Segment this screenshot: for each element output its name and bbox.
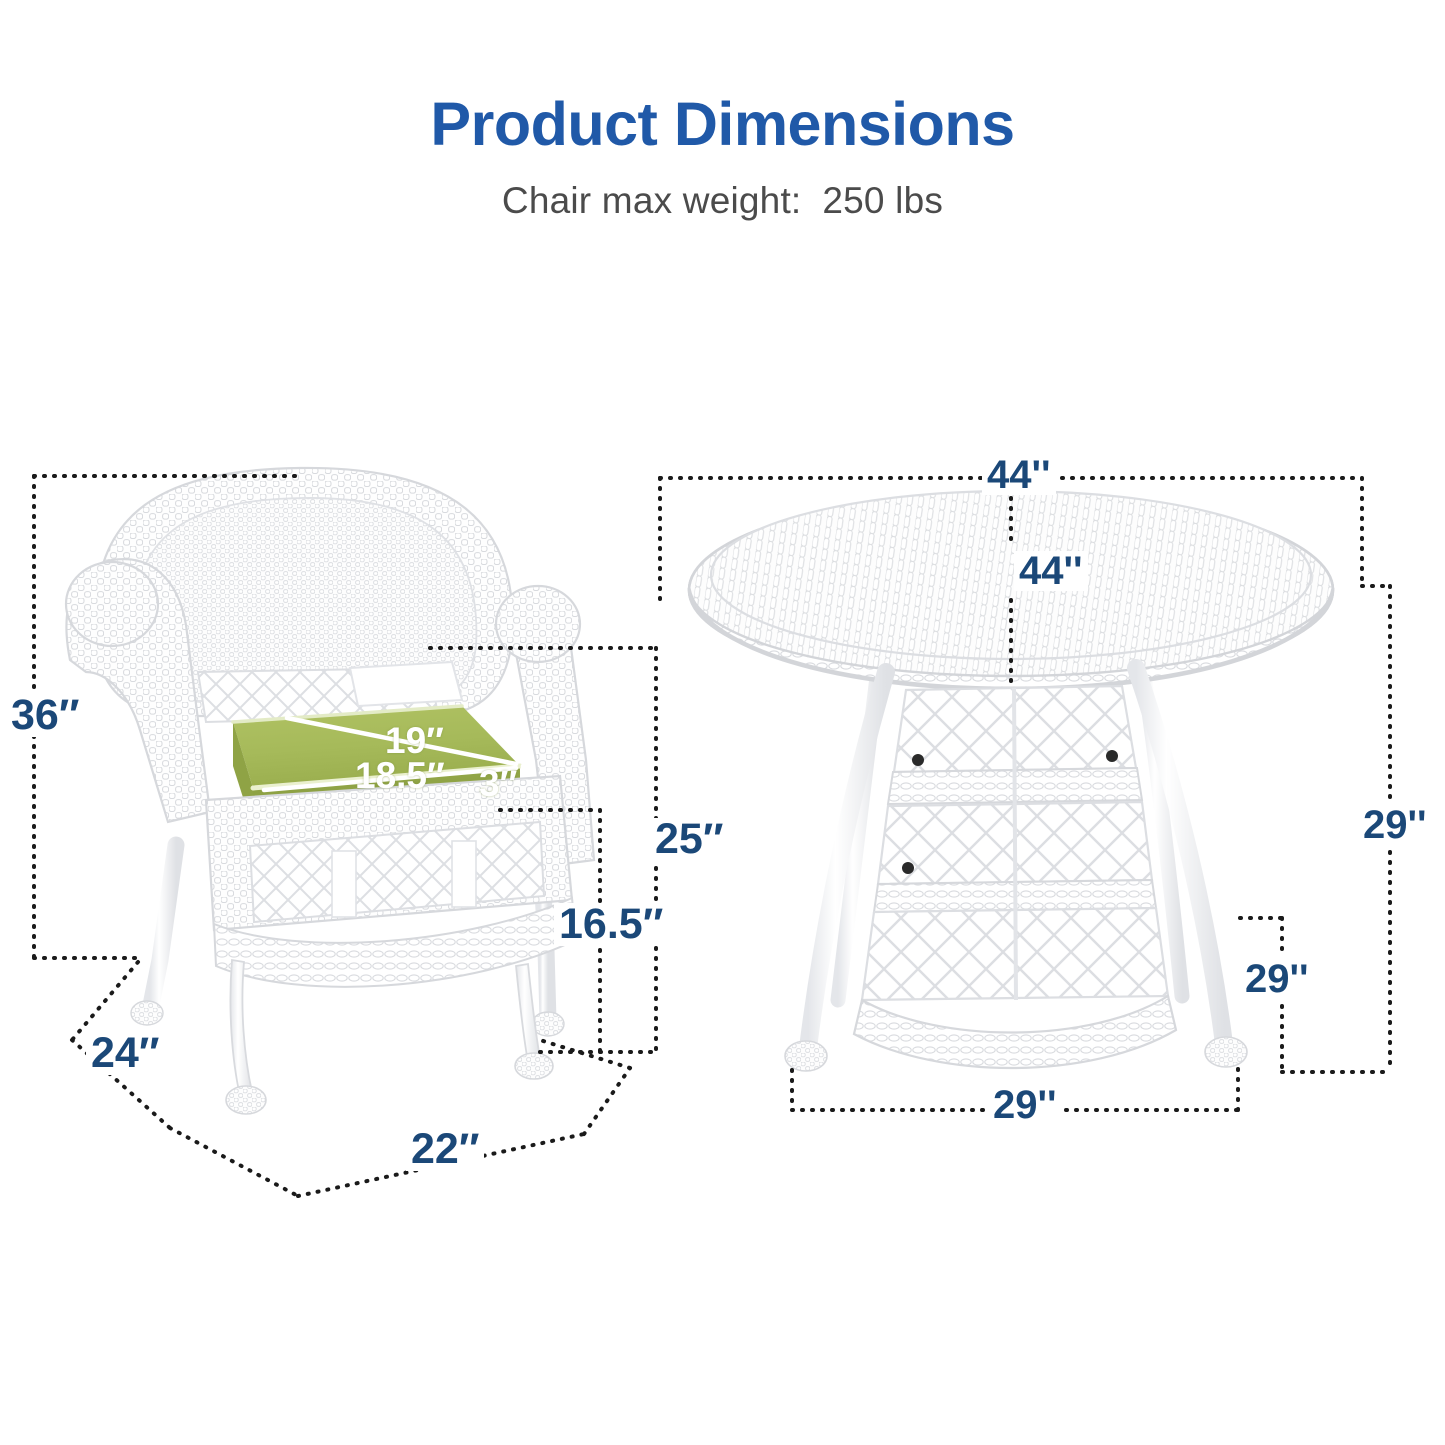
cushion-width-label: 18.5″ [355,757,445,794]
table-diameter-mid-label: 44'' [1014,551,1088,591]
chair-seat-height-label: 16.5″ [554,903,668,946]
chair-width-label: 22″ [406,1128,484,1171]
cushion-thickness-label: 3″ [479,765,517,802]
table-height-label: 29'' [1358,805,1432,845]
chair-depth-label: 24″ [86,1032,164,1075]
table-base-side-label: 29'' [1240,959,1314,999]
chair-overall-height-label: 36″ [6,694,84,737]
table-base-bottom-label: 29'' [988,1085,1062,1125]
cushion-depth-label: 19″ [385,722,444,759]
table-illustration [689,491,1333,1071]
table-diameter-top-label: 44'' [982,455,1056,495]
chair-seat-overall-height-label: 25″ [650,818,728,861]
product-dimensions-infographic: Product Dimensions Chair max weight: 250… [0,0,1445,1445]
illustration-stage: 36″ 25″ 16.5″ 24″ 22″ 19″ 18.5″ 3″ 44'' … [0,0,1445,1445]
